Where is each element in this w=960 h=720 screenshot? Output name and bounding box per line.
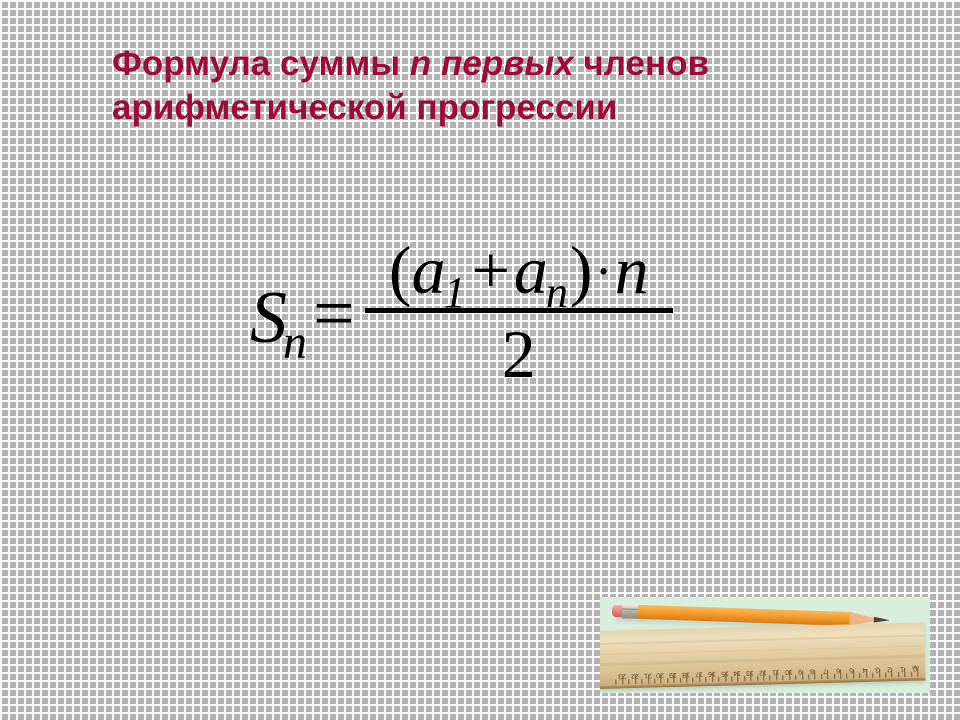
numerator-term-1-subscript: 1 [444,268,466,317]
ruler-tick-minor [885,672,886,677]
ruler-tick-major [827,670,828,679]
ruler-tick-major [840,670,841,679]
ruler-number-label: 17 [695,670,703,677]
numerator-plus-sign: + [472,232,510,308]
ruler-wood-grain [600,645,925,655]
ruler-number-label: 10 [785,668,793,675]
ruler-wood-grain [600,634,924,645]
formula-equation-row: Sn = (a1+an)·n 2 [250,222,720,402]
title-part-italic: n первых [410,44,574,83]
formula-sum-subscript: n [283,316,307,369]
formula-equals-sign: = [313,277,355,351]
ruler-number-label: 7 [823,667,827,674]
formula-block: Sn = (a1+an)·n 2 [250,222,720,402]
numerator-term-1: a [412,232,446,308]
numerator-term-2: a [514,232,548,308]
ruler-tick-minor [821,674,822,679]
ruler-tick-major [814,670,815,679]
formula-numerator: (a1+an)·n [383,236,655,308]
ruler-tick-minor [757,676,758,681]
ruler-tick-minor [744,676,745,681]
ruler-tick-minor [782,675,783,680]
ruler-tick-minor [654,679,655,684]
ruler-number-label: 20 [656,671,664,678]
ruler-tick-minor [859,673,860,678]
ruler-number-label: 15 [721,670,729,677]
numerator-close-paren: ) [570,232,593,308]
ruler-number-label: 18 [682,671,690,678]
ruler-tick-minor [731,677,732,682]
pencil-ferrule [622,604,639,619]
numerator-multiply-dot: · [595,241,613,301]
pencil-graphite-tip [874,617,890,624]
formula-left-hand-side: Sn [250,281,311,355]
numerator-open-paren: ( [389,232,412,308]
ruler-unit-label: cm [912,664,919,670]
page-title: Формула суммы n первых членов арифметиче… [112,42,902,130]
ruler-tick-minor [847,673,848,678]
ruler-tick-minor [616,680,617,685]
ruler-number-label: 21 [644,672,652,679]
ruler-number-label: 3 [875,666,879,673]
formula-sum-symbol: S [250,277,287,359]
ruler-number-label: 2 [887,665,891,672]
ruler-number-label: 11 [772,668,779,675]
numerator-term-2-subscript: n [546,268,568,317]
ruler-tick-minor [808,674,809,679]
ruler-tick-minor [641,679,642,684]
ruler-number-label: 9 [798,668,802,675]
ruler-tick-minor [898,672,899,677]
ruler-tick-minor [911,672,912,677]
numerator-factor-n: n [615,232,649,308]
ruler-number-label: 12 [759,669,767,676]
ruler-number-label: 1 [900,665,904,672]
formula-denominator: 2 [502,313,536,392]
ruler-tick-major [853,669,854,678]
ruler-number-label: 16 [708,670,716,677]
ruler-tick-minor [718,677,719,682]
ruler-number-label: 13 [746,669,754,676]
formula-fraction: (a1+an)·n 2 [365,236,673,392]
ruler-tick-minor [770,675,771,680]
ruler-number-label: 19 [669,671,677,678]
ruler-tick-minor [872,673,873,678]
ruler-number-label: 5 [849,666,853,673]
ruler-number-label: 14 [733,669,741,676]
wooden-ruler: 01234567891011121314151617181920212223 c… [600,622,925,689]
ruler-number-label: 8 [810,667,814,674]
ruler-number-label: 23 [618,672,626,679]
ruler-tick-minor [629,679,630,684]
slide-canvas: Формула суммы n первых членов арифметиче… [0,0,960,720]
ruler-tick-minor [795,675,796,680]
ruler-number-label: 6 [836,667,840,674]
ruler-number-label: 22 [631,672,639,679]
ruler-tick-minor [667,678,668,683]
ruler-tick-minor [705,677,706,682]
ruler-number-label: 4 [862,666,866,673]
title-part-1: Формула суммы [112,44,410,83]
ruler-tick-major [891,668,892,677]
ruler-tick-minor [834,674,835,679]
ruler-tick-minor [680,678,681,683]
ruler-tick-major [904,668,905,677]
pencil-ruler-photo: 01234567891011121314151617181920212223 c… [600,597,930,693]
ruler-tick-minor [693,678,694,683]
